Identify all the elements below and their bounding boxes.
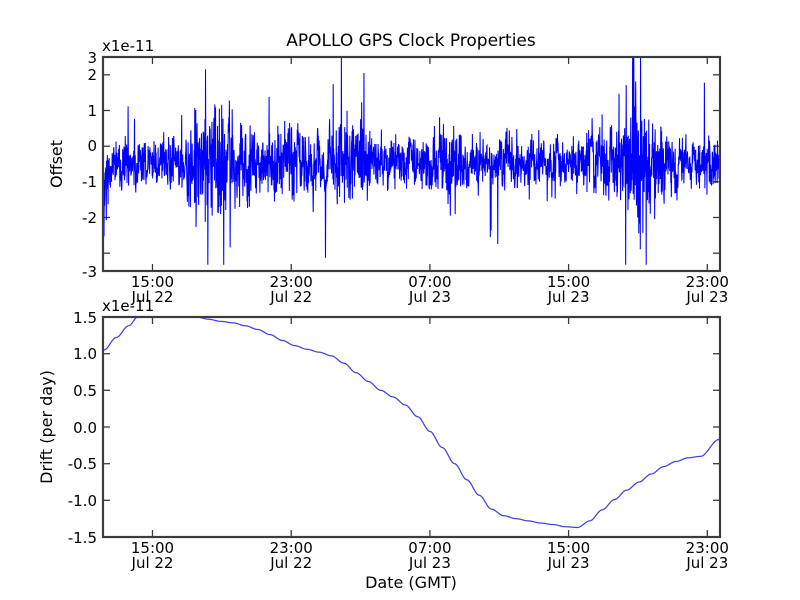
offset-ytick-label: -1 xyxy=(82,173,97,191)
drift-ytick-label: -1.5 xyxy=(68,529,97,547)
offset-exponent-label: x1e-11 xyxy=(102,37,154,55)
offset-ytick-label: 3 xyxy=(87,49,97,67)
offset-ytick-label: 2 xyxy=(87,66,97,84)
drift-ytick-label: -1.0 xyxy=(68,492,97,510)
drift-panel: x1e-11 1.5 1.0 0.5 0.0 -0.5 xyxy=(37,297,729,592)
drift-x-axis-title: Date (GMT) xyxy=(365,573,457,592)
drift-y-axis-title: Drift (per day) xyxy=(37,370,56,484)
drift-x-ticks xyxy=(153,317,708,537)
offset-ytick-label: -3 xyxy=(82,263,97,281)
drift-y-ticks xyxy=(103,317,720,537)
drift-ytick-label: 1.5 xyxy=(73,309,97,327)
drift-exponent-label: x1e-11 xyxy=(102,297,154,315)
drift-xtick-date: Jul 23 xyxy=(685,554,728,572)
offset-xtick-date: Jul 22 xyxy=(269,288,312,306)
drift-xtick-date: Jul 22 xyxy=(269,554,312,572)
drift-xtick-date: Jul 23 xyxy=(547,554,590,572)
offset-xtick-date: Jul 23 xyxy=(408,288,451,306)
drift-ytick-label: 0.5 xyxy=(73,382,97,400)
offset-ytick-label: 1 xyxy=(87,102,97,120)
offset-xtick-date: Jul 23 xyxy=(547,288,590,306)
drift-ytick-label: -0.5 xyxy=(68,455,97,473)
page-title: APOLLO GPS Clock Properties xyxy=(286,31,536,51)
drift-xtick-date: Jul 22 xyxy=(131,554,174,572)
drift-series-line xyxy=(104,308,719,527)
drift-ytick-label: 0.0 xyxy=(73,419,97,437)
offset-xtick-date: Jul 23 xyxy=(685,288,728,306)
offset-y-axis-title: Offset xyxy=(47,140,66,188)
drift-axes-frame xyxy=(103,317,720,537)
offset-series-line xyxy=(104,38,719,265)
drift-xtick-date: Jul 23 xyxy=(408,554,451,572)
drift-ytick-label: 1.0 xyxy=(73,345,97,363)
offset-ytick-label: 0 xyxy=(87,137,97,155)
offset-ytick-label: -2 xyxy=(82,209,97,227)
offset-panel: APOLLO GPS Clock Properties x1e-11 3 xyxy=(47,31,729,306)
figure-canvas: APOLLO GPS Clock Properties x1e-11 3 xyxy=(0,0,800,600)
